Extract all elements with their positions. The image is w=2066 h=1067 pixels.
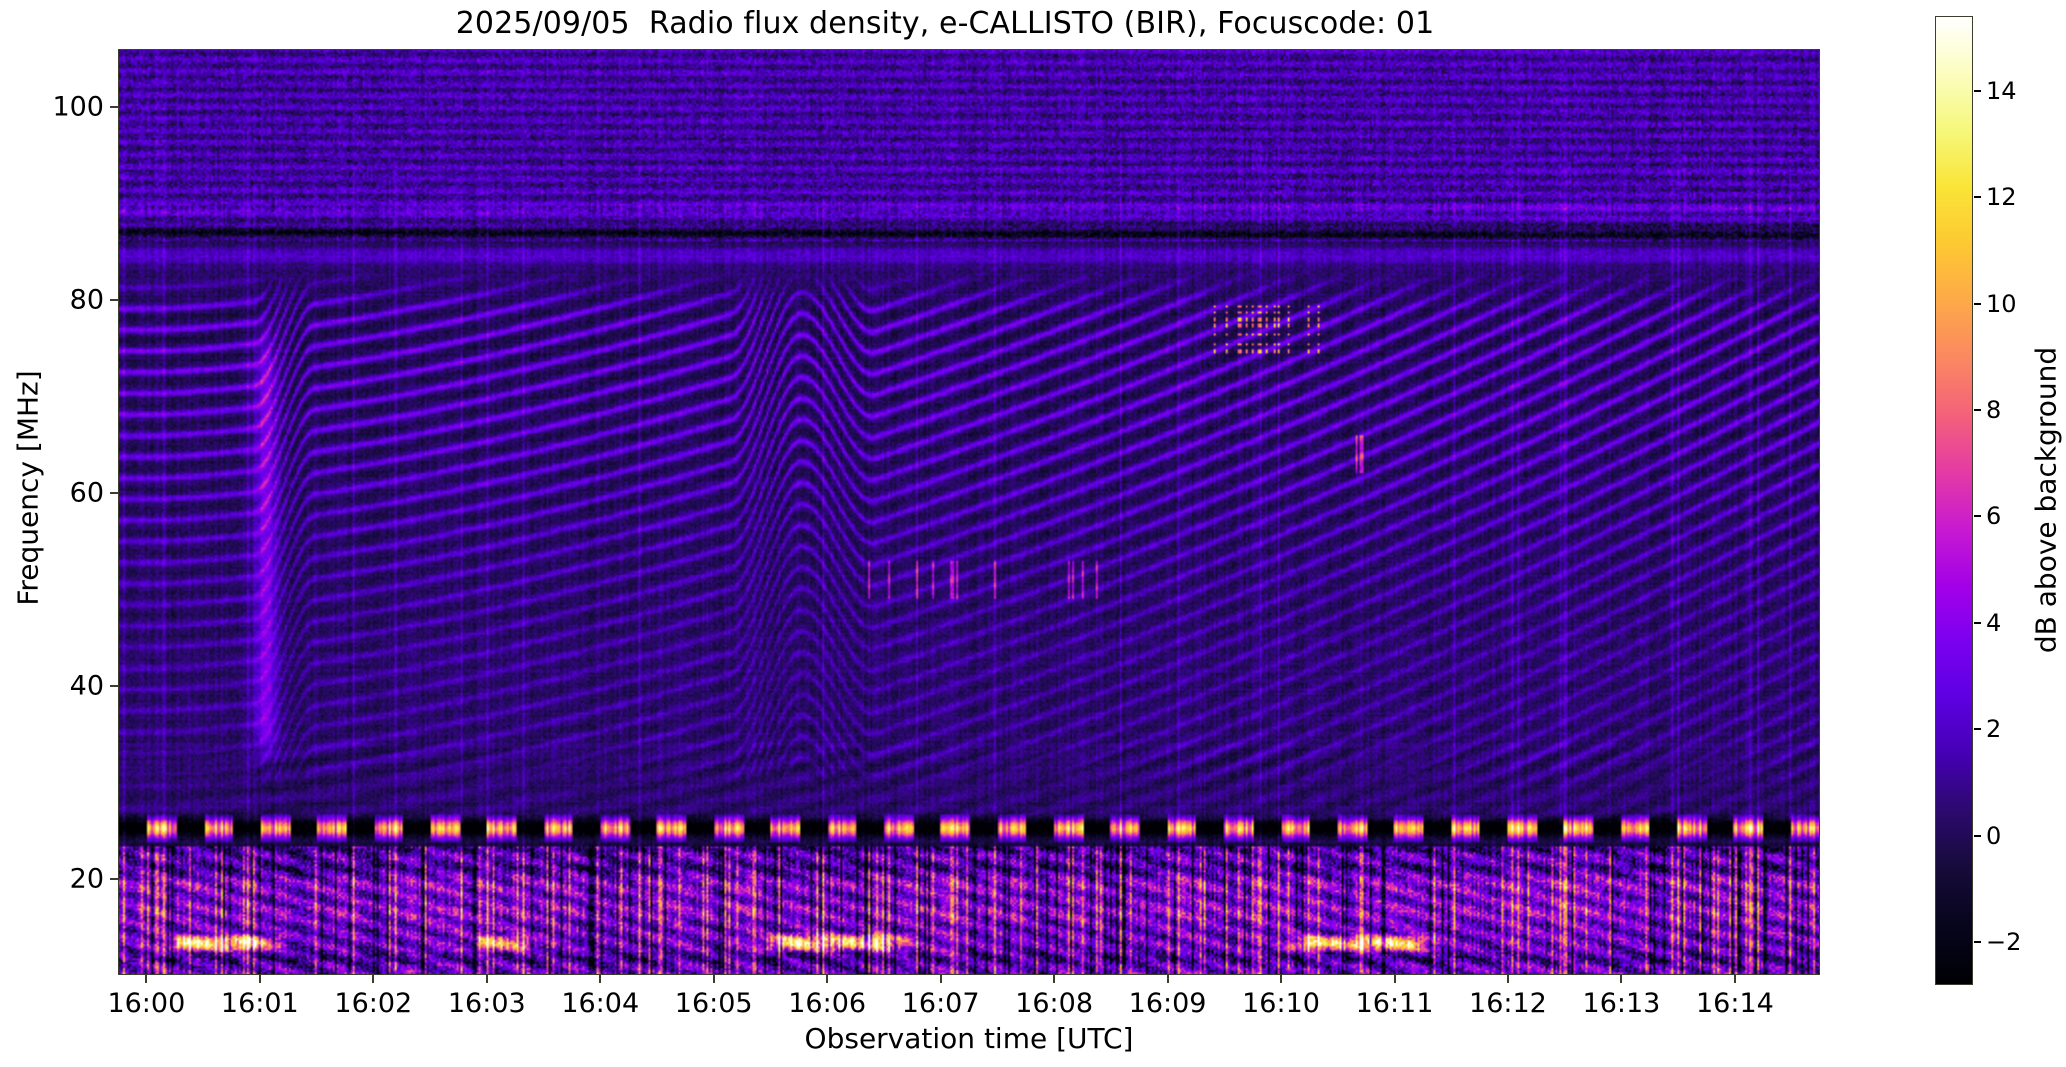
- x-tick-mark: [1167, 975, 1169, 983]
- x-tick-label: 16:05: [675, 988, 753, 1019]
- colorbar-tick-mark: [1974, 728, 1981, 730]
- x-tick-label: 16:00: [107, 988, 185, 1019]
- colorbar-tick-mark: [1974, 941, 1981, 943]
- y-tick-label: 40: [70, 670, 104, 701]
- page-title: 2025/09/05 Radio flux density, e-CALLIST…: [0, 6, 1890, 41]
- x-tick-label: 16:13: [1583, 988, 1661, 1019]
- y-tick-label: 60: [70, 477, 104, 508]
- colorbar: [1935, 16, 1973, 985]
- x-tick-mark: [1620, 975, 1622, 983]
- colorbar-tick-label: 14: [1986, 77, 2017, 105]
- colorbar-tick-mark: [1974, 409, 1981, 411]
- colorbar-tick-label: 12: [1986, 183, 2017, 211]
- x-tick-mark: [372, 975, 374, 983]
- y-tick-label: 80: [70, 284, 104, 315]
- colorbar-tick-label: 8: [1986, 396, 2001, 424]
- x-tick-label: 16:02: [334, 988, 412, 1019]
- colorbar-tick-mark: [1974, 835, 1981, 837]
- y-tick-label: 20: [70, 863, 104, 894]
- y-tick-mark: [110, 106, 118, 108]
- x-tick-mark: [486, 975, 488, 983]
- x-tick-mark: [1507, 975, 1509, 983]
- colorbar-tick-label: −2: [1986, 928, 2021, 956]
- colorbar-tick-label: 10: [1986, 290, 2017, 318]
- x-tick-mark: [713, 975, 715, 983]
- x-tick-label: 16:06: [788, 988, 866, 1019]
- x-tick-label: 16:10: [1242, 988, 1320, 1019]
- y-tick-mark: [110, 685, 118, 687]
- x-tick-mark: [940, 975, 942, 983]
- colorbar-tick-mark: [1974, 303, 1981, 305]
- colorbar-tick-label: 6: [1986, 502, 2001, 530]
- y-tick-mark: [110, 492, 118, 494]
- spectrogram-image: [119, 50, 1819, 974]
- y-tick-mark: [110, 299, 118, 301]
- colorbar-gradient: [1936, 17, 1972, 984]
- x-tick-label: 16:09: [1129, 988, 1207, 1019]
- x-tick-label: 16:14: [1696, 988, 1774, 1019]
- x-tick-mark: [1394, 975, 1396, 983]
- x-tick-mark: [1280, 975, 1282, 983]
- x-tick-label: 16:07: [902, 988, 980, 1019]
- colorbar-tick-mark: [1974, 90, 1981, 92]
- x-tick-mark: [826, 975, 828, 983]
- colorbar-tick-mark: [1974, 196, 1981, 198]
- x-tick-mark: [145, 975, 147, 983]
- x-tick-mark: [599, 975, 601, 983]
- x-tick-label: 16:11: [1356, 988, 1434, 1019]
- colorbar-tick-label: 0: [1986, 822, 2001, 850]
- colorbar-label: dB above background: [2030, 347, 2063, 653]
- colorbar-tick-mark: [1974, 622, 1981, 624]
- x-axis-label: Observation time [UTC]: [805, 1022, 1134, 1055]
- colorbar-tick-label: 4: [1986, 609, 2001, 637]
- x-tick-mark: [259, 975, 261, 983]
- x-tick-label: 16:12: [1469, 988, 1547, 1019]
- x-tick-label: 16:01: [221, 988, 299, 1019]
- y-tick-label: 100: [52, 91, 104, 122]
- x-tick-label: 16:04: [561, 988, 639, 1019]
- x-tick-mark: [1734, 975, 1736, 983]
- y-axis-label-wrap: Frequency [MHz]: [30, 0, 32, 1067]
- spectrogram-plot: [118, 49, 1820, 975]
- colorbar-tick-mark: [1974, 515, 1981, 517]
- y-tick-mark: [110, 878, 118, 880]
- x-tick-label: 16:03: [448, 988, 526, 1019]
- y-axis-label: Frequency [MHz]: [12, 370, 45, 605]
- x-tick-label: 16:08: [1015, 988, 1093, 1019]
- colorbar-tick-label: 2: [1986, 715, 2001, 743]
- x-tick-mark: [1053, 975, 1055, 983]
